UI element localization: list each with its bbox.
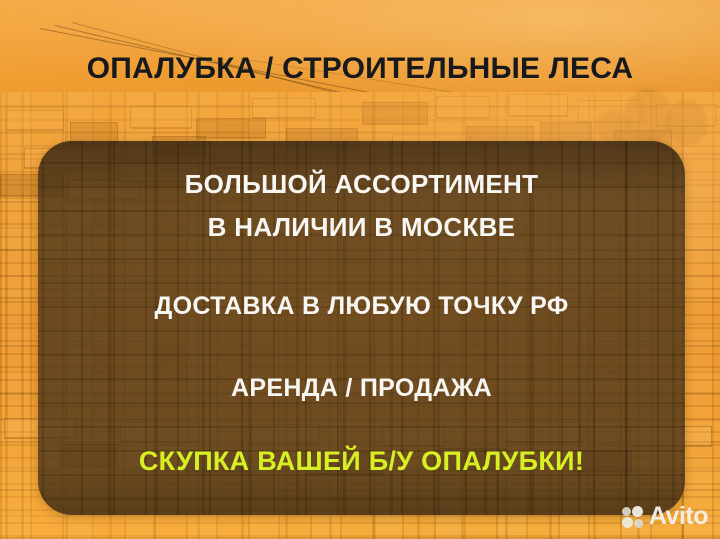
advertisement-banner: ОПАЛУБКА / СТРОИТЕЛЬНЫЕ ЛЕСА БОЛЬШОЙ АСС… [0,0,720,539]
offer-line-delivery: ДОСТАВКА В ЛЮБУЮ ТОЧКУ РФ [38,292,685,321]
offer-line-in-stock-moscow: В НАЛИЧИИ В МОСКВЕ [38,212,685,243]
offer-line-rent-sale: АРЕНДА / ПРОДАЖА [38,374,685,403]
avito-brand-label: Avito [649,504,708,529]
avito-four-dots-icon [622,506,644,528]
avito-watermark: Avito [622,504,708,529]
offer-list: БОЛЬШОЙ АССОРТИМЕНТ В НАЛИЧИИ В МОСКВЕ Д… [38,141,685,515]
offer-line-buyback-highlight: СКУПКА ВАШЕЙ Б/У ОПАЛУБКИ! [38,446,685,477]
page-title: ОПАЛУБКА / СТРОИТЕЛЬНЫЕ ЛЕСА [0,52,720,86]
offer-line-assortment: БОЛЬШОЙ АССОРТИМЕНТ [38,169,685,200]
offer-panel: БОЛЬШОЙ АССОРТИМЕНТ В НАЛИЧИИ В МОСКВЕ Д… [38,141,685,515]
